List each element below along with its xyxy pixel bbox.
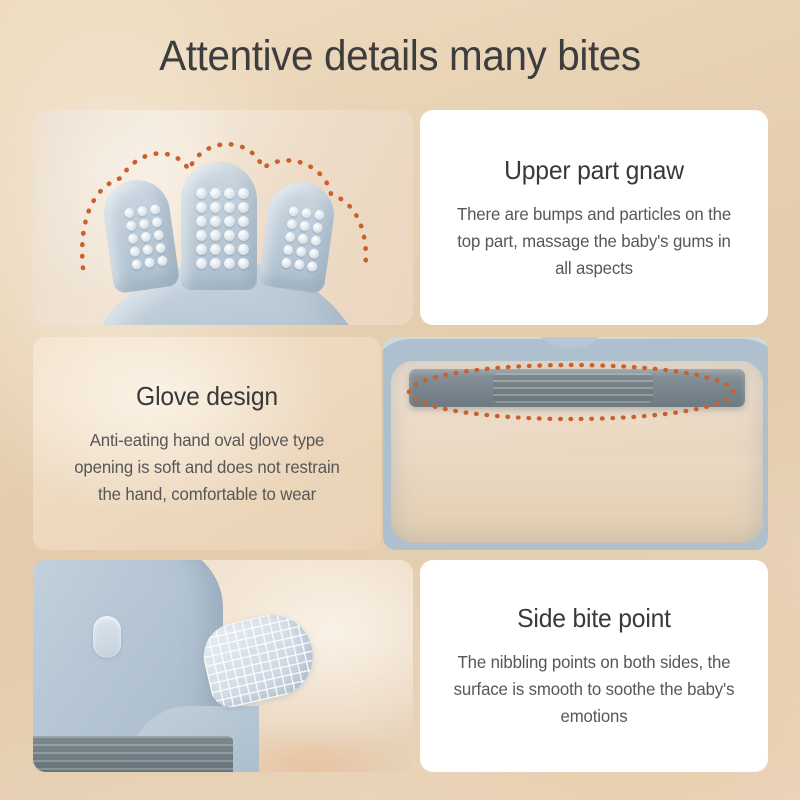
- page-title: Attentive details many bites: [24, 30, 776, 82]
- feature-panel-glove-design: Glove design Anti-eating hand oval glove…: [33, 337, 381, 550]
- dotted-highlight-crown: [77, 132, 373, 272]
- feature-body-side-bite-point: The nibbling points on both sides, the s…: [452, 649, 736, 730]
- infographic-page: Attentive details many bites Upper part …: [0, 0, 800, 800]
- feature-heading-side-bite-point: Side bite point: [453, 602, 734, 634]
- feature-body-upper-part-gnaw: There are bumps and particles on the top…: [452, 201, 736, 282]
- feature-panel-upper-part-gnaw: Upper part gnaw There are bumps and part…: [420, 110, 768, 325]
- feature-photo-side-bite-point: [33, 560, 413, 772]
- feature-heading-upper-part-gnaw: Upper part gnaw: [453, 154, 734, 186]
- teether-strap: [33, 736, 233, 772]
- feature-photo-upper-part-gnaw: [33, 110, 413, 325]
- feature-body-glove-design: Anti-eating hand oval glove type opening…: [65, 427, 349, 508]
- feature-photo-glove-design: [383, 337, 768, 550]
- feature-panel-side-bite-point: Side bite point The nibbling points on b…: [420, 560, 768, 772]
- teether-dimple: [93, 616, 121, 658]
- feature-heading-glove-design: Glove design: [66, 380, 347, 412]
- dotted-highlight-oval: [401, 359, 741, 425]
